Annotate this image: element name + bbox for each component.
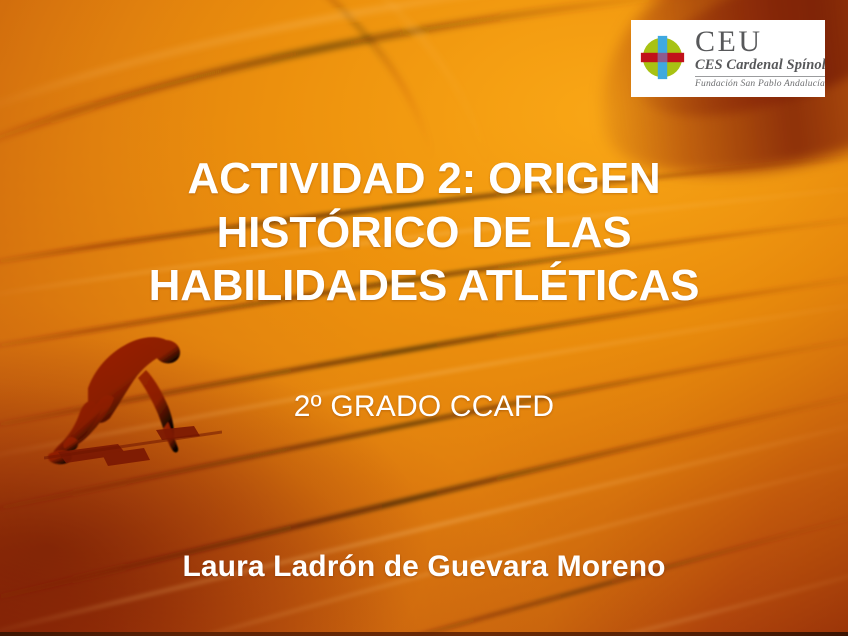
ceu-cross-circle-icon (639, 34, 686, 81)
presentation-slide: CEU CES Cardenal Spínola Fundación San P… (0, 0, 848, 636)
slide-top-edge (0, 0, 848, 4)
logo-acronym: CEU (695, 27, 825, 57)
slide-bottom-edge (0, 632, 848, 636)
institution-logo: CEU CES Cardenal Spínola Fundación San P… (631, 20, 825, 97)
logo-divider (695, 76, 825, 77)
logo-foundation-name: Fundación San Pablo Andalucía (695, 79, 825, 89)
slide-title: ACTIVIDAD 2: ORIGEN HISTÓRICO DE LAS HAB… (0, 152, 848, 313)
slide-subtitle: 2º GRADO CCAFD (0, 390, 848, 424)
logo-institution-name: CES Cardenal Spínola (695, 58, 825, 74)
logo-text-group: CEU CES Cardenal Spínola Fundación San P… (695, 27, 825, 89)
slide-author: Laura Ladrón de Guevara Moreno (0, 550, 848, 584)
